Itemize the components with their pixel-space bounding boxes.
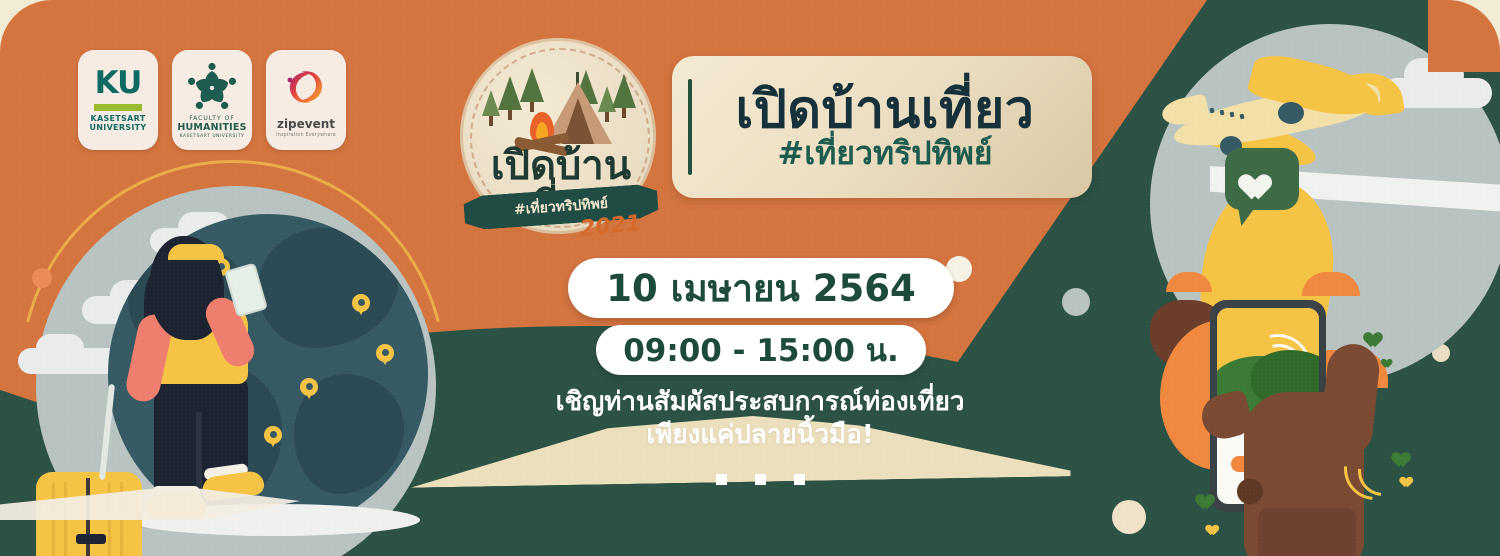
event-emblem: เปิดบ้านเที่ยว #เที่ยวทริปทิพย์ 2021 [452,38,670,234]
tree-trunk [530,102,534,112]
sponsor-logo-row: KU KASETSART UNIVERSITY FACULTY OF HUMAN… [78,50,346,150]
zipevent-tagline: Inspiration Everywhere [276,133,336,138]
decorative-dots [430,470,1090,489]
event-date-pill: 10 เมษายน 2564 [568,258,954,318]
event-banner: KU KASETSART UNIVERSITY FACULTY OF HUMAN… [0,0,1500,556]
ku-green-bar [94,104,142,111]
heart-icon [1247,164,1277,192]
pine-tree-icon [612,74,636,108]
pine-tree-icon [482,90,500,116]
tree-trunk [508,110,512,120]
mini-heart-icon [1368,326,1386,342]
plane-engine [1278,102,1304,124]
logo-kasetsart-university[interactable]: KU KASETSART UNIVERSITY [78,50,158,150]
logo-faculty-of-humanities[interactable]: FACULTY OF HUMANITIES KASETSART UNIVERSI… [172,50,252,150]
page-title: เปิดบ้านเที่ยว [692,83,1078,138]
cloud-icon [36,334,84,362]
humanities-line2: HUMANITIES [177,122,246,133]
accent-dot [32,268,52,288]
logo-zipevent[interactable]: zipevent Inspiration Everywhere [266,50,346,150]
pine-tree-icon [520,68,544,102]
mini-heart-icon [1200,488,1218,504]
corner-mask-left [0,0,72,72]
dot [794,474,805,485]
tree-trunk [622,108,626,118]
humanities-people-star-icon [186,62,238,110]
dot [716,474,727,485]
accent-dot [1062,288,1090,316]
heart-speech-bubble [1225,148,1299,210]
tagline-line-1: เชิญท่านสัมผัสประสบการณ์ท่องเที่ยว [430,386,1090,419]
pine-tree-icon [498,76,522,110]
event-tagline: เชิญท่านสัมผัสประสบการณ์ท่องเที่ยว เพียง… [430,386,1090,451]
map-pin-icon [376,344,394,362]
ku-name-line2: UNIVERSITY [90,124,147,133]
dot [755,474,766,485]
map-pin-icon [352,294,370,312]
mini-heart-icon [1209,520,1222,531]
humanities-line3: KASETSART UNIVERSITY [180,134,245,139]
ku-monogram: KU [95,68,142,99]
mini-heart-icon [1384,355,1395,365]
corner-mask-right [1428,0,1500,72]
zipevent-swirl-icon [281,63,331,111]
tree-trunk [489,116,493,126]
event-time-pill: 09:00 - 15:00 น. [596,325,926,375]
headband-shape [168,244,224,260]
tagline-line-2: เพียงแค่ปลายนิ้วมือ! [430,419,1090,452]
accent-dot [1112,500,1146,534]
zipevent-wordmark: zipevent [277,117,335,131]
page-subtitle-hashtag: #เที่ยวทริปทิพย์ [692,136,1078,171]
title-panel: เปิดบ้านเที่ยว #เที่ยวทริปทิพย์ [672,56,1092,198]
humanities-line1: FACULTY OF [189,115,234,122]
hand-wrist [1258,508,1356,556]
